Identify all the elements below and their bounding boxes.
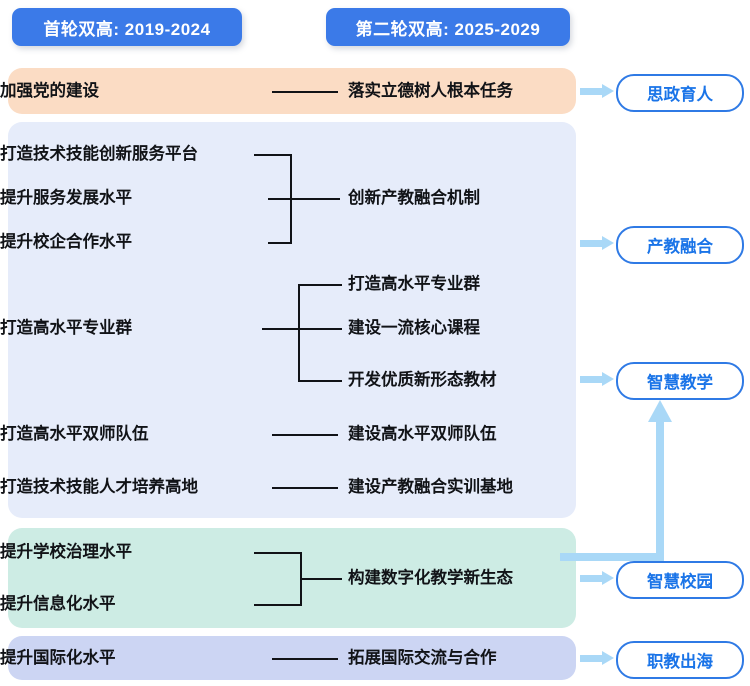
- row-a-left-3: 提升校企合作水平: [0, 229, 262, 255]
- row-pair-1-right: 建设高水平双师队伍: [348, 421, 578, 447]
- connector-campus-branch-1: [254, 552, 302, 554]
- outcome-pill-smart-teaching-label: 智慧教学: [647, 369, 713, 393]
- outcome-pill-smart-teaching[interactable]: 智慧教学: [616, 362, 744, 400]
- row-b-right-1: 打造高水平专业群: [348, 271, 578, 297]
- item-party-right: 落实立德树人根本任务: [348, 78, 513, 104]
- outcome-pill-industry-education-integration[interactable]: 产教融合: [616, 226, 744, 264]
- connector-party: [272, 91, 338, 93]
- item-pair-2-left: 打造技术技能人才培养高地: [0, 474, 198, 500]
- row-pair-2-right: 建设产教融合实训基地: [348, 474, 578, 500]
- row-global-left: 提升国际化水平: [0, 645, 262, 671]
- row-pair-2-left: 打造技术技能人才培养高地: [0, 474, 262, 500]
- connector-b-branch-3: [298, 380, 342, 382]
- outcome-pill-ideological-education[interactable]: 思政育人: [616, 74, 744, 112]
- outcome-pill-smart-campus[interactable]: 智慧校园: [616, 561, 744, 599]
- row-campus-left-1: 提升学校治理水平: [0, 539, 262, 565]
- connector-a-branch-2: [268, 198, 292, 200]
- row-b-left-1: 打造高水平专业群: [0, 315, 262, 341]
- item-b-right-3: 开发优质新形态教材: [348, 367, 497, 393]
- item-campus-left-1: 提升学校治理水平: [0, 539, 132, 565]
- item-pair-2-right: 建设产教融合实训基地: [348, 474, 513, 500]
- item-campus-left-2: 提升信息化水平: [0, 591, 116, 617]
- item-pair-1-right: 建设高水平双师队伍: [348, 421, 497, 447]
- outcome-pill-vocational-overseas[interactable]: 职教出海: [616, 641, 744, 679]
- flow-arrow-to-ideological: [580, 84, 614, 98]
- connector-b-branch-1: [298, 284, 342, 286]
- flow-arrow-to-vocational-overseas: [580, 651, 614, 665]
- connector-a-branch-3: [268, 242, 292, 244]
- row-party-left: 加强党的建设: [0, 78, 262, 104]
- flow-arrow-to-industry-education: [580, 236, 614, 250]
- connector-b-branch-2: [298, 328, 342, 330]
- item-b-right-1: 打造高水平专业群: [348, 271, 480, 297]
- connector-pair-1: [272, 434, 338, 436]
- outcome-pill-smart-campus-label: 智慧校园: [647, 568, 713, 592]
- row-b-right-2: 建设一流核心课程: [348, 315, 578, 341]
- phase-chip-second-round: 第二轮双高: 2025-2029: [326, 8, 570, 46]
- row-a-left-1: 打造技术技能创新服务平台: [0, 141, 262, 167]
- item-a-right-1: 创新产教融合机制: [348, 185, 480, 211]
- connector-campus-branch-2: [254, 604, 302, 606]
- diagram-canvas: 首轮双高: 2019-2024 第二轮双高: 2025-2029 加强党的建设 …: [0, 0, 750, 686]
- connector-a-branch-1: [254, 154, 292, 156]
- item-b-left-1: 打造高水平专业群: [0, 315, 132, 341]
- item-b-right-2: 建设一流核心课程: [348, 315, 480, 341]
- outcome-pill-ideological-education-label: 思政育人: [647, 81, 713, 105]
- row-campus-right-1: 构建数字化教学新生态: [348, 565, 578, 591]
- row-campus-left-2: 提升信息化水平: [0, 591, 262, 617]
- phase-chip-first-round: 首轮双高: 2019-2024: [12, 8, 242, 46]
- connector-b-stem: [262, 328, 300, 330]
- phase-chip-second-round-label: 第二轮双高: 2025-2029: [356, 15, 541, 40]
- row-party-right: 落实立德树人根本任务: [348, 78, 578, 104]
- row-a-left-2: 提升服务发展水平: [0, 185, 262, 211]
- row-pair-1-left: 打造高水平双师队伍: [0, 421, 262, 447]
- item-party-left: 加强党的建设: [0, 78, 99, 104]
- connector-a-stem: [290, 198, 340, 200]
- connector-b-spine: [298, 284, 300, 380]
- outcome-pill-industry-education-integration-label: 产教融合: [647, 233, 713, 257]
- connector-global: [272, 658, 338, 660]
- row-a-right-1: 创新产教融合机制: [348, 185, 578, 211]
- row-b-right-3: 开发优质新形态教材: [348, 367, 578, 393]
- outcome-pill-vocational-overseas-label: 职教出海: [647, 648, 713, 672]
- flow-arrow-to-smart-campus: [580, 571, 614, 585]
- item-a-left-3: 提升校企合作水平: [0, 229, 132, 255]
- item-campus-right-1: 构建数字化教学新生态: [348, 565, 513, 591]
- row-global-right: 拓展国际交流与合作: [348, 645, 578, 671]
- phase-chip-first-round-label: 首轮双高: 2019-2024: [43, 15, 210, 40]
- flow-arrow-to-smart-teaching: [580, 372, 614, 386]
- connector-pair-2: [272, 487, 338, 489]
- item-a-left-1: 打造技术技能创新服务平台: [0, 141, 198, 167]
- connector-campus-stem: [300, 578, 342, 580]
- item-pair-1-left: 打造高水平双师队伍: [0, 421, 149, 447]
- flow-arrow-campus-to-smart-teaching: [560, 392, 690, 572]
- item-global-left: 提升国际化水平: [0, 645, 116, 671]
- item-a-left-2: 提升服务发展水平: [0, 185, 132, 211]
- item-global-right: 拓展国际交流与合作: [348, 645, 497, 671]
